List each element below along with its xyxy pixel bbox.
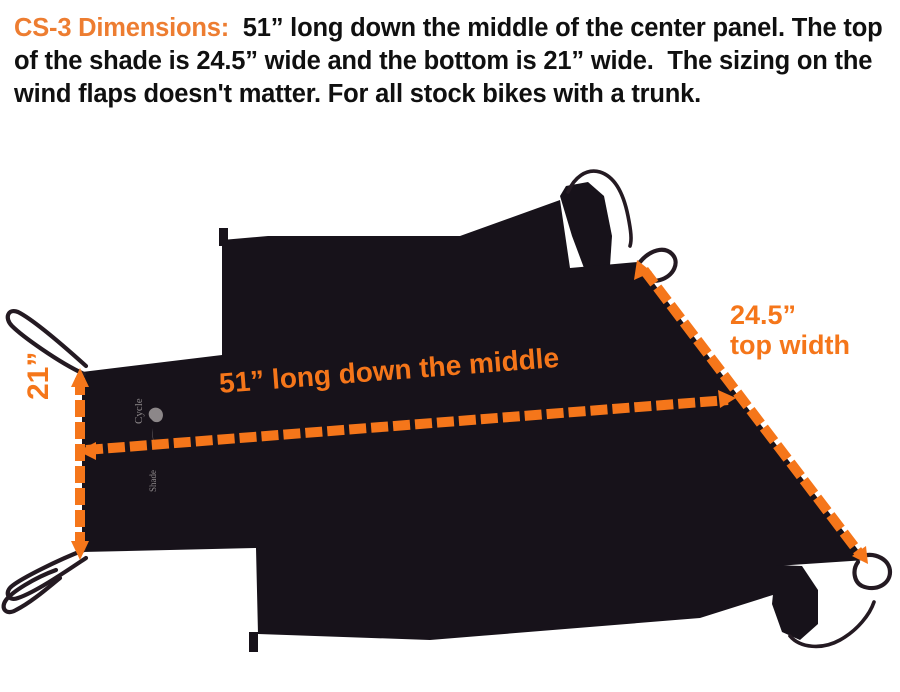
label-top-width-value: 24.5” [730,300,796,330]
label-top-width: 24.5” top width [730,300,850,360]
svg-text:Cycle: Cycle [133,398,145,424]
tab-bottom-center-panel [249,632,258,652]
tab-top-center-panel [219,228,228,246]
label-bottom-width: 21” [22,352,56,400]
wind-flap-bottom-right [772,565,818,640]
svg-text:Shade: Shade [148,470,158,492]
product-dimension-diagram: CS-3 Dimensions: 51” long down the middl… [0,0,900,692]
label-top-width-caption: top width [730,330,850,360]
